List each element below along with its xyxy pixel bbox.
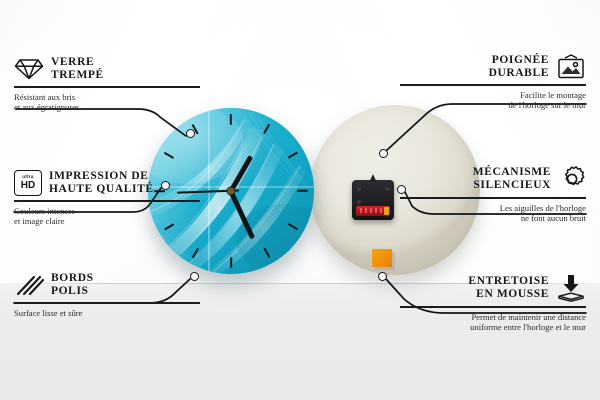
feature-title: ENTRETOISE EN MOUSSE bbox=[468, 275, 549, 301]
feature-subtitle: Facilite le montage de l'horloge sur le … bbox=[400, 90, 586, 111]
feature-title: VERRE TREMPÉ bbox=[51, 56, 104, 82]
diamond-icon bbox=[14, 57, 44, 81]
polished-edges-icon bbox=[14, 273, 44, 297]
movement-screw bbox=[357, 200, 361, 204]
infographic-canvas: VERRE TREMPÉ Résistant aux bris et aux é… bbox=[0, 0, 600, 400]
feature-subtitle: Permet de maintenir une distance uniform… bbox=[400, 312, 586, 333]
feature-mecanisme-silencieux: MÉCANISME SILENCIEUX Les aiguilles de l'… bbox=[400, 165, 586, 223]
gear-icon bbox=[558, 165, 586, 193]
feature-entretoise-en-mousse: ENTRETOISE EN MOUSSE Permet de maintenir… bbox=[400, 274, 586, 332]
foam-spacer bbox=[372, 249, 392, 267]
feature-title: POIGNÉE DURABLE bbox=[489, 54, 549, 80]
feature-subtitle: Couleurs intenses et image claire bbox=[14, 206, 200, 227]
feature-divider bbox=[14, 86, 200, 88]
feature-subtitle: Surface lisse et sûre bbox=[14, 308, 200, 318]
ultra-hd-badge-icon: ultra HD bbox=[14, 170, 42, 196]
battery-label-stripe bbox=[360, 208, 382, 213]
feature-divider bbox=[14, 200, 200, 202]
feature-poignee-durable: POIGNÉE DURABLE Facilite le montage de l… bbox=[400, 54, 586, 110]
ultra-hd-badge-large-text: HD bbox=[21, 181, 35, 191]
feature-impression-haute-qualite: ultra HD IMPRESSION DE HAUTE QUALITÉ Cou… bbox=[14, 170, 200, 226]
feature-subtitle: Résistant aux bris et aux égratignures bbox=[14, 92, 200, 113]
feature-subtitle: Les aiguilles de l'horloge ne font aucun… bbox=[400, 203, 586, 224]
feature-divider bbox=[400, 197, 586, 199]
feature-title: IMPRESSION DE HAUTE QUALITÉ bbox=[49, 170, 154, 196]
feature-divider bbox=[14, 302, 200, 304]
movement-screw bbox=[357, 187, 361, 191]
callout-anchor-dot-poignee bbox=[379, 149, 388, 158]
quartz-movement bbox=[352, 180, 394, 220]
wall-frame-hanger-icon bbox=[556, 54, 586, 80]
feature-divider bbox=[400, 306, 586, 308]
callout-anchor-dot-verre-trempe bbox=[186, 129, 195, 138]
feature-bords-polis: BORDS POLIS Surface lisse et sûre bbox=[14, 272, 200, 318]
feature-title: BORDS POLIS bbox=[51, 272, 94, 298]
movement-hanger-tab bbox=[367, 174, 380, 182]
movement-screw bbox=[385, 187, 389, 191]
feature-divider bbox=[400, 84, 586, 86]
callout-anchor-dot-entretoise bbox=[378, 272, 387, 281]
battery bbox=[356, 206, 390, 216]
clock-center-hub bbox=[228, 188, 235, 195]
feature-title: MÉCANISME SILENCIEUX bbox=[473, 166, 551, 192]
battery-positive-terminal bbox=[384, 207, 389, 215]
feature-verre-trempe: VERRE TREMPÉ Résistant aux bris et aux é… bbox=[14, 56, 200, 112]
foam-spacer-arrow-icon bbox=[556, 274, 586, 302]
